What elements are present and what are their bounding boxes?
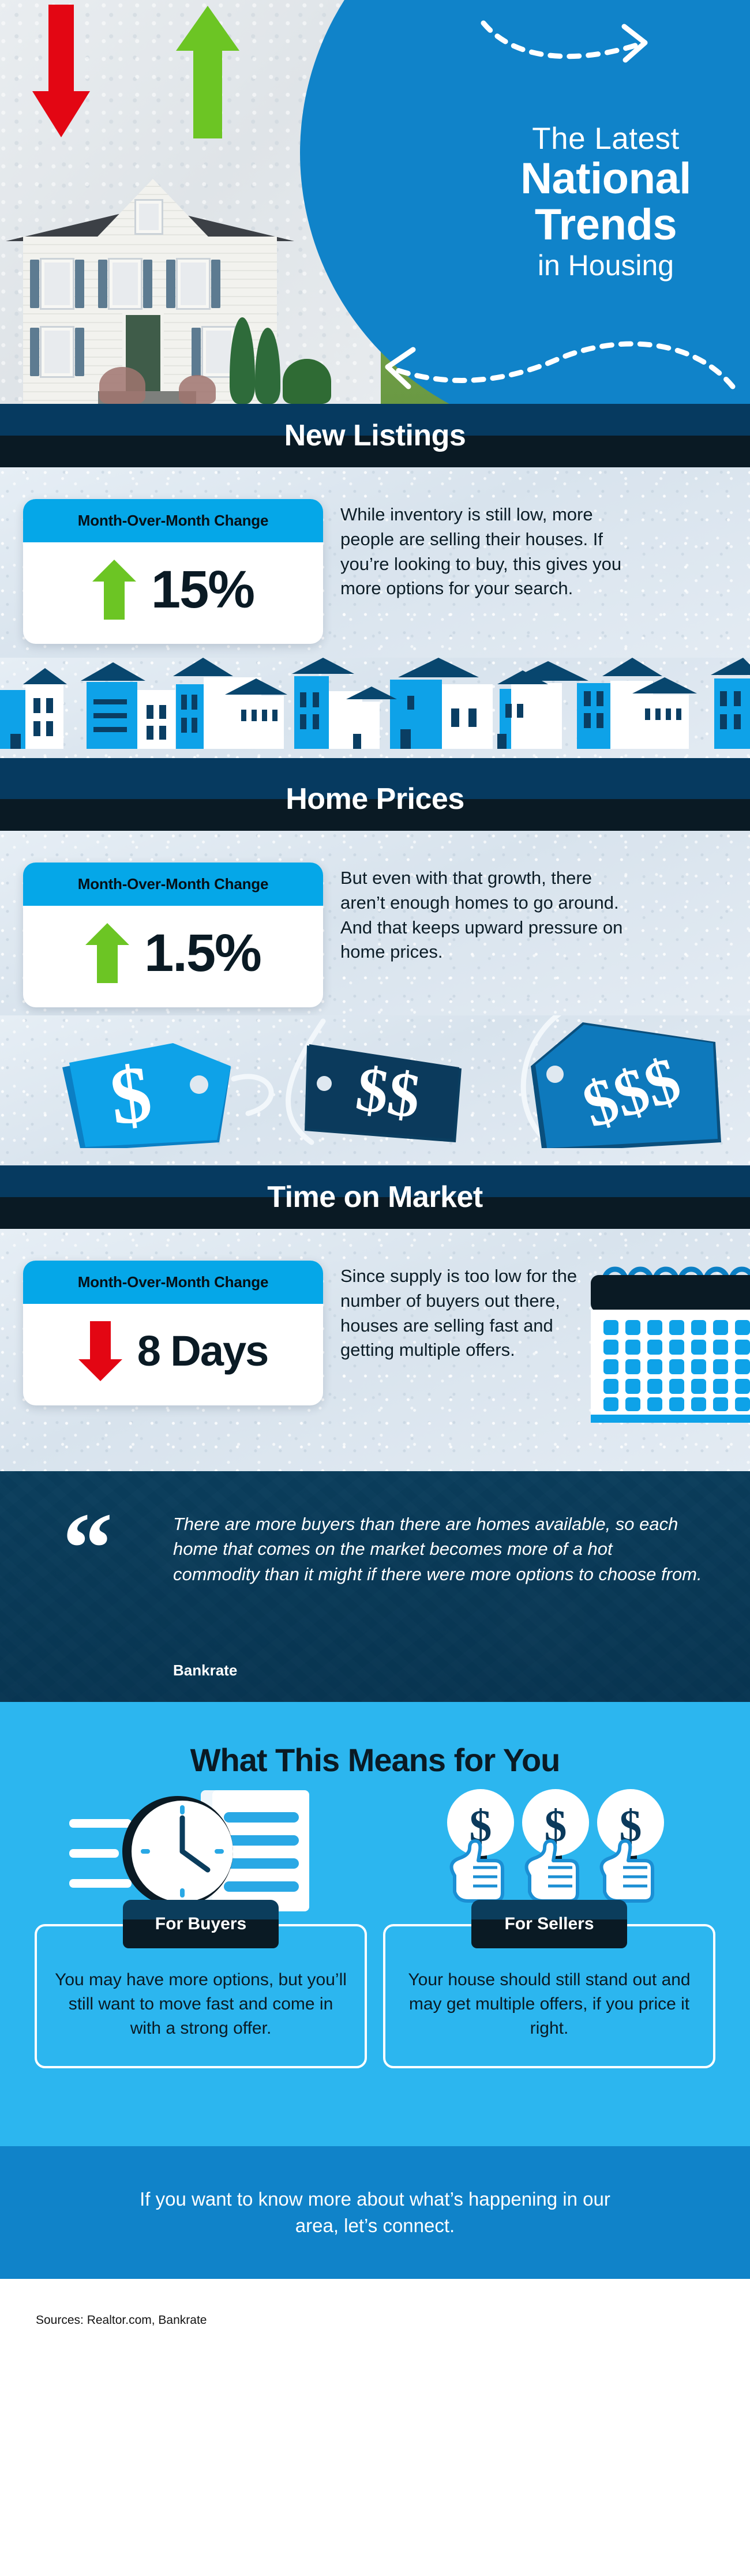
- quote-section: “ There are more buyers than there are h…: [0, 1471, 750, 1702]
- red-down-arrow-icon: [78, 1321, 122, 1381]
- house-photo-illustration: [0, 173, 323, 404]
- audience-cards: For Buyers You may have more options, bu…: [0, 1924, 750, 2068]
- means-heading: What This Means for You: [0, 1702, 750, 1779]
- section-body-new-listings: While inventory is still low, more peopl…: [340, 499, 640, 601]
- pill-for-sellers: For Sellers: [471, 1900, 627, 1948]
- card-body-for-sellers: Your house should still stand out and ma…: [402, 1968, 697, 2041]
- stat-card-home-prices: Month-Over-Month Change 1.5%: [23, 863, 323, 1007]
- green-up-arrow-icon: [85, 923, 129, 983]
- cta-text: If you want to know more about what’s ha…: [115, 2186, 635, 2239]
- stat-value: 1.5%: [144, 927, 261, 980]
- red-down-arrow-icon: [32, 5, 90, 137]
- pill-for-buyers: For Buyers: [123, 1900, 279, 1948]
- stat-card-time-on-market: Month-Over-Month Change 8 Days: [23, 1261, 323, 1405]
- green-up-arrow-icon: [92, 560, 136, 620]
- thumbs-up-dollar-icons: $ $: [444, 1789, 675, 1916]
- sources-text: Sources: Realtor.com, Bankrate: [0, 2279, 207, 2327]
- card-body-for-buyers: You may have more options, but you’ll st…: [53, 1968, 348, 2041]
- dashed-arrow-right-icon: [479, 18, 652, 68]
- dashed-arrow-left-icon: [368, 333, 737, 404]
- means-icons-row: $ $: [0, 1789, 750, 1916]
- card-for-sellers: For Sellers Your house should still stan…: [383, 1924, 715, 2068]
- stat-caption: Month-Over-Month Change: [23, 863, 323, 906]
- sources-footer: Sources: Realtor.com, Bankrate: [0, 2279, 750, 2380]
- section-title-home-prices: Home Prices: [0, 767, 750, 831]
- new-listings-content: Month-Over-Month Change 15% While invent…: [0, 467, 750, 658]
- infographic-page: The Latest National Trends in Housing Ne…: [0, 0, 750, 2576]
- section-banner-home-prices: Home Prices: [0, 767, 750, 831]
- section-title-new-listings: New Listings: [0, 404, 750, 467]
- stat-value: 15%: [151, 563, 254, 616]
- hero-subtitle: in Housing: [538, 250, 674, 281]
- house-skyline-illustration: [0, 658, 750, 767]
- stat-caption: Month-Over-Month Change: [23, 499, 323, 542]
- section-banner-new-listings: New Listings: [0, 404, 750, 467]
- pill-label: For Sellers: [471, 1900, 627, 1948]
- stat-card-new-listings: Month-Over-Month Change 15%: [23, 499, 323, 644]
- what-this-means-section: What This Means for You: [0, 1702, 750, 2146]
- section-banner-time-on-market: Time on Market: [0, 1165, 750, 1229]
- time-on-market-content: Month-Over-Month Change 8 Days Since sup…: [0, 1229, 750, 1471]
- card-for-buyers: For Buyers You may have more options, bu…: [35, 1924, 367, 2068]
- calendar-icon: [577, 1252, 750, 1442]
- hero-eyebrow: The Latest: [532, 123, 679, 155]
- home-prices-content: Month-Over-Month Change 1.5% But even wi…: [0, 831, 750, 1015]
- quote-source: Bankrate: [173, 1662, 237, 1679]
- hero-title-line-2: Trends: [535, 203, 677, 247]
- section-body-home-prices: But even with that growth, there aren’t …: [340, 863, 640, 965]
- stat-caption: Month-Over-Month Change: [23, 1261, 323, 1304]
- section-body-time-on-market: Since supply is too low for the number o…: [340, 1261, 583, 1363]
- pill-label: For Buyers: [123, 1900, 279, 1948]
- hero-title-line-1: National: [520, 157, 691, 201]
- quote-text: There are more buyers than there are hom…: [173, 1512, 704, 1587]
- quote-mark-icon: “: [62, 1512, 113, 1584]
- clock-document-icon: [69, 1789, 346, 1916]
- cta-section: If you want to know more about what’s ha…: [0, 2146, 750, 2279]
- green-up-arrow-icon: [176, 6, 239, 138]
- hero-section: The Latest National Trends in Housing: [0, 0, 750, 404]
- price-tags-illustration: $ $$ $$$: [0, 1015, 750, 1165]
- section-title-time-on-market: Time on Market: [0, 1165, 750, 1229]
- stat-value: 8 Days: [137, 1330, 268, 1373]
- svg-text:$$: $$: [352, 1053, 425, 1131]
